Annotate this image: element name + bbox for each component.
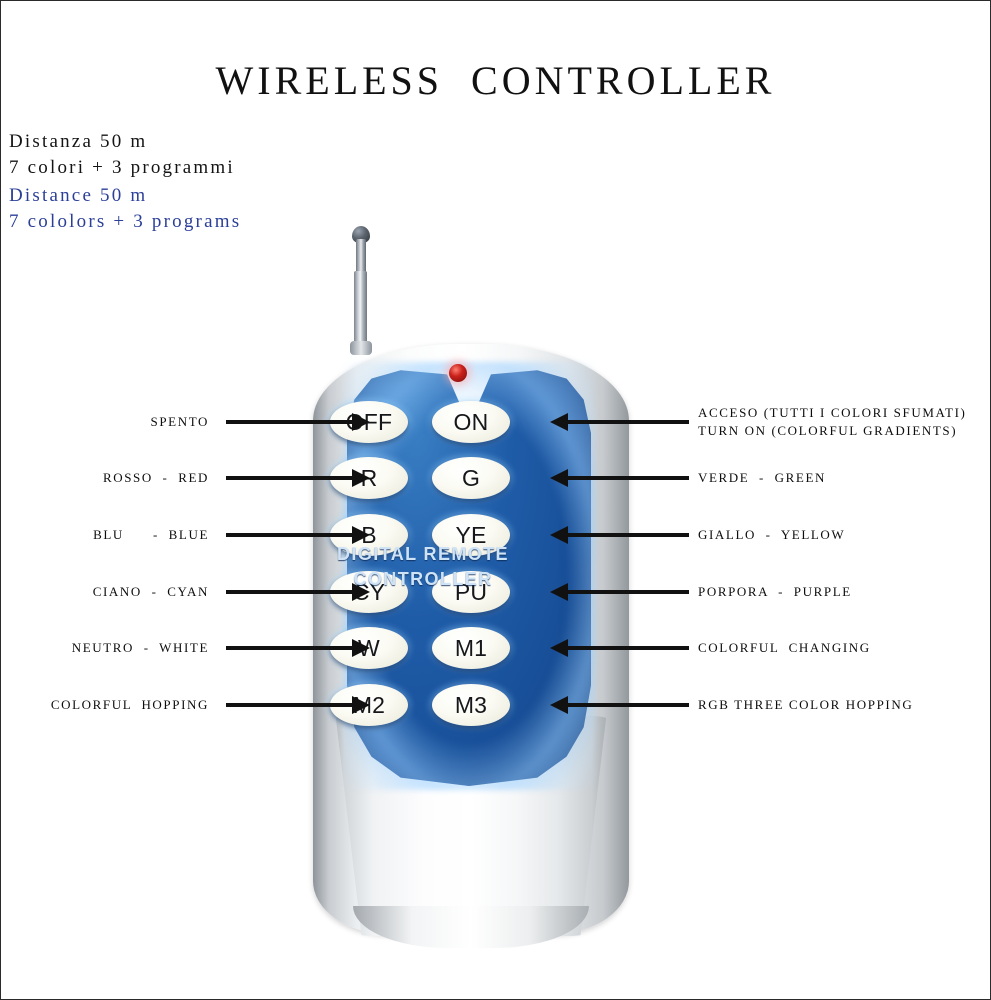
- callout-left-label-b: BLU - BLUE: [93, 526, 209, 544]
- callout-left-arrow-cy: [226, 590, 353, 594]
- arrow-head-icon: [550, 469, 568, 487]
- callout-left-label-w: NEUTRO - WHITE: [72, 639, 209, 657]
- callout-left-label-r: ROSSO - RED: [103, 469, 209, 487]
- arrow-head-icon: [550, 413, 568, 431]
- key-button-on[interactable]: ON: [432, 401, 510, 443]
- remote-control-device: OFFONRGBYECYPUWM1M2M3 DIGITAL REMOTE CON…: [301, 216, 641, 936]
- callout-right-arrow-m3: [567, 703, 689, 707]
- callout-right-arrow-m1: [567, 646, 689, 650]
- callout-right-arrow-on: [567, 420, 689, 424]
- arrow-head-icon: [352, 696, 370, 714]
- callout-right-label-m3: RGB THREE COLOR HOPPING: [698, 696, 913, 714]
- arrow-head-icon: [352, 413, 370, 431]
- page-title: WIRELESS CONTROLLER: [1, 57, 990, 104]
- callout-right-arrow-pu: [567, 590, 689, 594]
- callout-left-arrow-r: [226, 476, 353, 480]
- callout-left-label-off: SPENTO: [151, 413, 209, 431]
- callout-right-label-pu: PORPORA - PURPLE: [698, 583, 852, 601]
- arrow-head-icon: [352, 469, 370, 487]
- arrow-head-icon: [352, 526, 370, 544]
- arrow-head-icon: [550, 696, 568, 714]
- arrow-head-icon: [352, 583, 370, 601]
- arrow-head-icon: [550, 526, 568, 544]
- key-button-m3[interactable]: M3: [432, 684, 510, 726]
- spec-english-colors: 7 cololors + 3 programs: [9, 211, 241, 233]
- spec-english-distance: Distance 50 m: [9, 185, 147, 207]
- arrow-head-icon: [550, 583, 568, 601]
- antenna-base-collar: [350, 341, 372, 355]
- device-brand-text: DIGITAL REMOTE CONTROLLER: [301, 542, 545, 592]
- key-button-m1[interactable]: M1: [432, 627, 510, 669]
- callout-right-label-on: ACCESO (TUTTI I COLORI SFUMATI) TURN ON …: [698, 404, 966, 440]
- callout-left-label-cy: CIANO - CYAN: [93, 583, 209, 601]
- callout-right-arrow-ye: [567, 533, 689, 537]
- callout-right-label-m1: COLORFUL CHANGING: [698, 639, 871, 657]
- spec-italian-distance: Distanza 50 m: [9, 131, 147, 153]
- arrow-head-icon: [550, 639, 568, 657]
- callout-left-label-m2: COLORFUL HOPPING: [51, 696, 209, 714]
- poster-canvas: WIRELESS CONTROLLER Distanza 50 m 7 colo…: [0, 0, 991, 1000]
- key-button-g[interactable]: G: [432, 457, 510, 499]
- callout-left-arrow-m2: [226, 703, 353, 707]
- arrow-head-icon: [352, 639, 370, 657]
- callout-right-label-ye: GIALLO - YELLOW: [698, 526, 845, 544]
- callout-right-arrow-g: [567, 476, 689, 480]
- antenna-lower-segment: [354, 271, 367, 346]
- remote-body-bottom-cap: [353, 906, 589, 948]
- callout-right-label-g: VERDE - GREEN: [698, 469, 826, 487]
- callout-left-arrow-w: [226, 646, 353, 650]
- callout-left-arrow-off: [226, 420, 353, 424]
- callout-left-arrow-b: [226, 533, 353, 537]
- spec-italian-colors: 7 colori + 3 programmi: [9, 157, 235, 179]
- status-led-indicator: [449, 364, 467, 382]
